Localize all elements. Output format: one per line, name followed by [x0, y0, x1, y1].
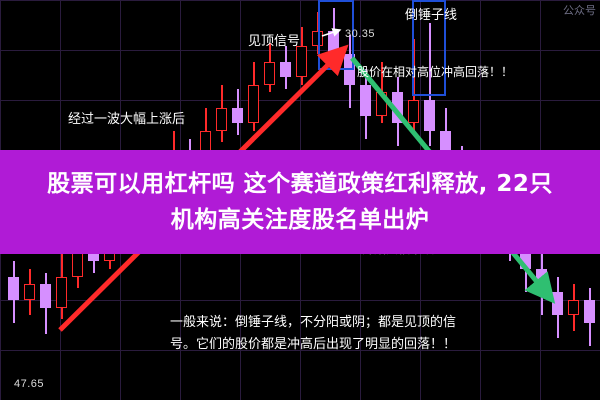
- candle-body: [40, 284, 51, 307]
- title-banner: 股票可以用杠杆吗 这个赛道政策红利释放, 22只 机构高关注度股名单出炉: [0, 150, 600, 254]
- explanation-paragraph: 一般来说：倒锤子线，不分阳或阴；都是见顶的信 号。它们的股价都是冲高后出现了明显…: [170, 312, 590, 356]
- candle-body: [392, 92, 403, 123]
- candle-body: [232, 108, 243, 123]
- banner-line-1: 股票可以用杠杆吗 这个赛道政策红利释放, 22只: [20, 166, 580, 202]
- candle-body: [376, 92, 387, 115]
- candle-body: [248, 85, 259, 123]
- candle-body: [264, 62, 275, 85]
- banner-text: 股票可以用杠杆吗 这个赛道政策红利释放, 22只 机构高关注度股名单出炉: [20, 166, 580, 238]
- candle-body: [408, 100, 419, 123]
- candle-body: [8, 277, 19, 300]
- price-label: 30.35: [345, 28, 375, 40]
- candle-body: [280, 62, 291, 77]
- chart-canvas: 30.3547.65 见顶信号倒锤子线股价在相对高位冲高回落！！经过一波大幅上涨…: [0, 0, 600, 400]
- banner-line-2: 机构高关注度股名单出炉: [20, 202, 580, 238]
- candle-body: [24, 284, 35, 299]
- annotation-high-pullback: 股价在相对高位冲高回落！！: [357, 63, 513, 80]
- price-label: 47.65: [14, 378, 44, 390]
- candle-body: [216, 108, 227, 131]
- candle-body: [296, 46, 307, 77]
- candle-body: [536, 269, 547, 292]
- candle-body: [360, 85, 371, 116]
- annotation-after-big-rise: 经过一波大幅上涨后: [68, 108, 185, 127]
- candle-body: [424, 100, 435, 131]
- annotation-top-signal: 见顶信号: [248, 30, 300, 49]
- watermark-label: 公众号: [563, 2, 596, 18]
- paragraph-line-2: 号。它们的股价都是冲高后出现了明显的回落！！: [170, 334, 590, 356]
- annotation-inverted-hammer: 倒锤子线: [405, 4, 457, 23]
- candle-body: [56, 277, 67, 308]
- paragraph-line-1: 一般来说：倒锤子线，不分阳或阴；都是见顶的信: [170, 312, 590, 334]
